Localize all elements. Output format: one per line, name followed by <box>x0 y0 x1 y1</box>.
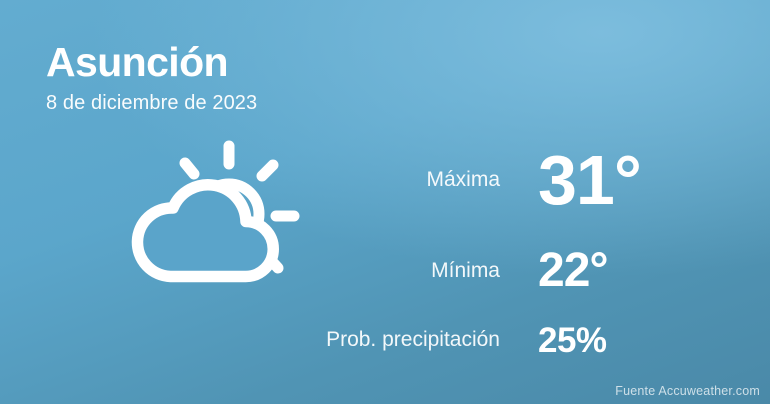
stat-row-min: Mínima 22° <box>300 232 720 310</box>
stat-label-precipitation: Prob. precipitación <box>300 328 538 352</box>
stat-label-min: Mínima <box>300 259 538 283</box>
partly-cloudy-sun-icon <box>108 132 328 302</box>
forecast-date: 8 de diciembre de 2023 <box>46 91 466 115</box>
stat-value-max: 31° <box>538 145 720 215</box>
stat-row-precipitation: Prob. precipitación 25% <box>300 310 720 370</box>
stat-row-max: Máxima 31° <box>300 128 720 232</box>
stat-value-min: 22° <box>538 247 720 295</box>
stat-label-max: Máxima <box>300 168 538 192</box>
stat-value-precipitation: 25% <box>538 323 720 358</box>
city-name: Asunción <box>46 40 466 86</box>
source-attribution: Fuente Accuweather.com <box>615 384 760 398</box>
weather-stats: Máxima 31° Mínima 22° Prob. precipitació… <box>300 128 720 370</box>
weather-header: Asunción 8 de diciembre de 2023 <box>46 40 466 115</box>
weather-widget: Asunción 8 de diciembre de 2023 Máxima 3… <box>0 0 770 404</box>
